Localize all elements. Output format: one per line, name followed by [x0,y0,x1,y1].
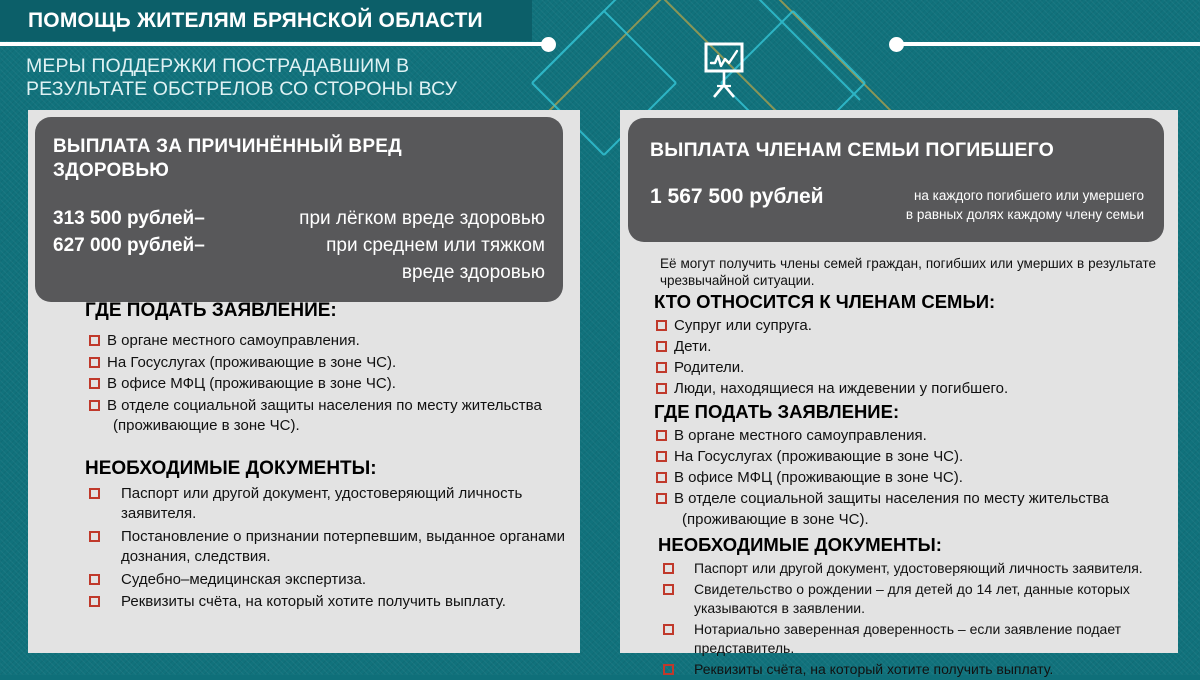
list-item-text: Судебно–медицинская экспертиза. [121,571,366,588]
checkbox-square-icon [656,383,667,394]
list-item: Нотариально заверенная доверенность – ес… [662,620,1170,659]
right-where-heading: ГДЕ ПОДАТЬ ЗАЯВЛЕНИЕ: [654,401,1170,423]
checkbox-square-icon [656,493,667,504]
right-card-amount-line: 1 567 500 рублей на каждого погибшего ил… [650,186,1144,224]
left-amount-list: 313 500 рублей – при лёгком вреде здоров… [53,205,545,286]
left-docs-list: Паспорт или другой документ, удостоверяю… [89,484,573,613]
right-where-list: В органе местного самоуправления. На Гос… [656,425,1170,530]
list-item: В органе местного самоуправления. [656,425,1170,446]
right-panel-body: Её могут получить члены семей граждан, п… [628,255,1170,680]
left-panel: ВЫПЛАТА ЗА ПРИЧИНЁННЫЙ ВРЕД ЗДОРОВЬЮ 313… [28,110,580,653]
right-docs-heading: НЕОБХОДИМЫЕ ДОКУМЕНТЫ: [658,534,1170,556]
checkbox-square-icon [89,335,100,346]
checkbox-square-icon [663,664,674,675]
checkbox-square-icon [89,378,100,389]
list-item-text: Паспорт или другой документ, удостоверяю… [694,560,1143,576]
list-item-text: В отделе социальной защиты населения по … [674,490,1109,507]
accent-dot-left [541,37,556,52]
checkbox-square-icon [89,531,100,542]
amount-dash: – [194,205,205,232]
right-members-list: Супруг или супруга. Дети. Родители. Люди… [656,315,1170,399]
list-item-text: Супруг или супруга. [674,317,812,334]
list-item-subtext: (проживающие в зоне ЧС). [674,509,1170,530]
subtitle-line-2: РЕЗУЛЬТАТЕ ОБСТРЕЛОВ СО СТОРОНЫ ВСУ [26,78,546,101]
checkbox-square-icon [663,624,674,635]
amount-description: при среднем или тяжком [326,235,545,256]
list-item-subtext: (проживающие в зоне ЧС). [107,416,573,437]
checkbox-square-icon [89,596,100,607]
amount-tail: вреде здоровью [53,259,545,286]
amount-value: 313 500 рублей [53,205,194,232]
list-item: На Госуслугах (проживающие в зоне ЧС). [89,353,573,374]
list-item: Реквизиты счёта, на который хотите получ… [89,592,573,613]
left-card-title: ВЫПЛАТА ЗА ПРИЧИНЁННЫЙ ВРЕД ЗДОРОВЬЮ [53,135,545,183]
list-item: В отделе социальной защиты населения по … [656,488,1170,530]
list-item-text: В отделе социальной защиты населения по … [107,397,542,414]
subtitle-line-1: МЕРЫ ПОДДЕРЖКИ ПОСТРАДАВШИМ В [26,55,546,78]
list-item: Паспорт или другой документ, удостоверяю… [89,484,573,525]
left-where-list: В органе местного самоуправления. На Гос… [89,331,573,437]
list-item-text: Дети. [674,338,711,355]
list-item-text: Паспорт или другой документ, удостоверяю… [121,485,522,523]
list-item-text: Реквизиты счёта, на который хотите получ… [694,661,1053,677]
list-item: Постановление о признании потерпевшим, в… [89,527,573,568]
amount-dash: – [194,232,205,259]
list-item: Паспорт или другой документ, удостоверяю… [662,559,1170,579]
amount-value: 627 000 рублей [53,232,194,259]
checkbox-square-icon [663,563,674,574]
list-item: Реквизиты счёта, на который хотите получ… [662,660,1170,680]
left-docs-heading: НЕОБХОДИМЫЕ ДОКУМЕНТЫ: [85,458,573,480]
right-payment-card: ВЫПЛАТА ЧЛЕНАМ СЕМЬИ ПОГИБШЕГО 1 567 500… [628,118,1164,242]
list-item-text: На Госуслугах (проживающие в зоне ЧС). [107,354,396,371]
list-item: Дети. [656,336,1170,357]
checkbox-square-icon [656,362,667,373]
checkbox-square-icon [89,400,100,411]
list-item: Свидетельство о рождении – для детей до … [662,580,1170,619]
left-payment-card: ВЫПЛАТА ЗА ПРИЧИНЁННЫЙ ВРЕД ЗДОРОВЬЮ 313… [35,117,563,302]
list-item: В органе местного самоуправления. [89,331,573,352]
checkbox-square-icon [656,430,667,441]
checkbox-square-icon [656,472,667,483]
right-members-heading: КТО ОТНОСИТСЯ К ЧЛЕНАМ СЕМЬИ: [654,291,1170,313]
presentation-chart-icon [697,42,751,100]
checkbox-square-icon [656,451,667,462]
right-panel: ВЫПЛАТА ЧЛЕНАМ СЕМЬИ ПОГИБШЕГО 1 567 500… [620,110,1178,653]
amount-row: 313 500 рублей – при лёгком вреде здоров… [53,205,545,232]
list-item: В отделе социальной защиты населения по … [89,396,573,437]
list-item-text: Постановление о признании потерпевшим, в… [121,528,565,566]
accent-rule-right [896,42,1200,46]
checkbox-square-icon [89,488,100,499]
checkbox-square-icon [656,320,667,331]
checkbox-square-icon [89,357,100,368]
right-card-title: ВЫПЛАТА ЧЛЕНАМ СЕМЬИ ПОГИБШЕГО [650,138,1144,162]
left-panel-body: ГДЕ ПОДАТЬ ЗАЯВЛЕНИЕ: В органе местного … [35,300,573,615]
amount-description: при лёгком вреде здоровью [299,208,545,229]
accent-dot-right [889,37,904,52]
list-item-text: В офисе МФЦ (проживающие в зоне ЧС). [107,375,396,392]
list-item: На Госуслугах (проживающие в зоне ЧС). [656,446,1170,467]
list-item-text: В офисе МФЦ (проживающие в зоне ЧС). [674,469,963,486]
checkbox-square-icon [656,341,667,352]
list-item: Родители. [656,357,1170,378]
checkbox-square-icon [89,574,100,585]
right-intro-text: Её могут получить члены семей граждан, п… [660,255,1156,289]
checkbox-square-icon [663,584,674,595]
list-item: В офисе МФЦ (проживающие в зоне ЧС). [656,467,1170,488]
left-where-heading: ГДЕ ПОДАТЬ ЗАЯВЛЕНИЕ: [85,300,573,322]
list-item: Люди, находящиеся на иждевении у погибше… [656,378,1170,399]
list-item: Судебно–медицинская экспертиза. [89,570,573,591]
list-item-text: Свидетельство о рождении – для детей до … [694,581,1130,617]
list-item-text: Люди, находящиеся на иждевении у погибше… [674,380,1008,397]
list-item-text: В органе местного самоуправления. [674,427,927,444]
list-item: В офисе МФЦ (проживающие в зоне ЧС). [89,374,573,395]
list-item: Супруг или супруга. [656,315,1170,336]
page-title: ПОМОЩЬ ЖИТЕЛЯМ БРЯНСКОЙ ОБЛАСТИ [28,9,483,33]
accent-rule-left [0,42,548,46]
page-subtitle: МЕРЫ ПОДДЕРЖКИ ПОСТРАДАВШИМ В РЕЗУЛЬТАТЕ… [26,55,546,101]
amount-value: 1 567 500 рублей [650,186,824,208]
list-item-text: Родители. [674,359,744,376]
amount-row: 627 000 рублей – при среднем или тяжком [53,232,545,259]
list-item-text: В органе местного самоуправления. [107,332,360,349]
list-item-text: На Госуслугах (проживающие в зоне ЧС). [674,448,963,465]
list-item-text: Нотариально заверенная доверенность – ес… [694,621,1121,657]
right-docs-list: Паспорт или другой документ, удостоверяю… [662,559,1170,679]
list-item-text: Реквизиты счёта, на который хотите получ… [121,593,506,610]
